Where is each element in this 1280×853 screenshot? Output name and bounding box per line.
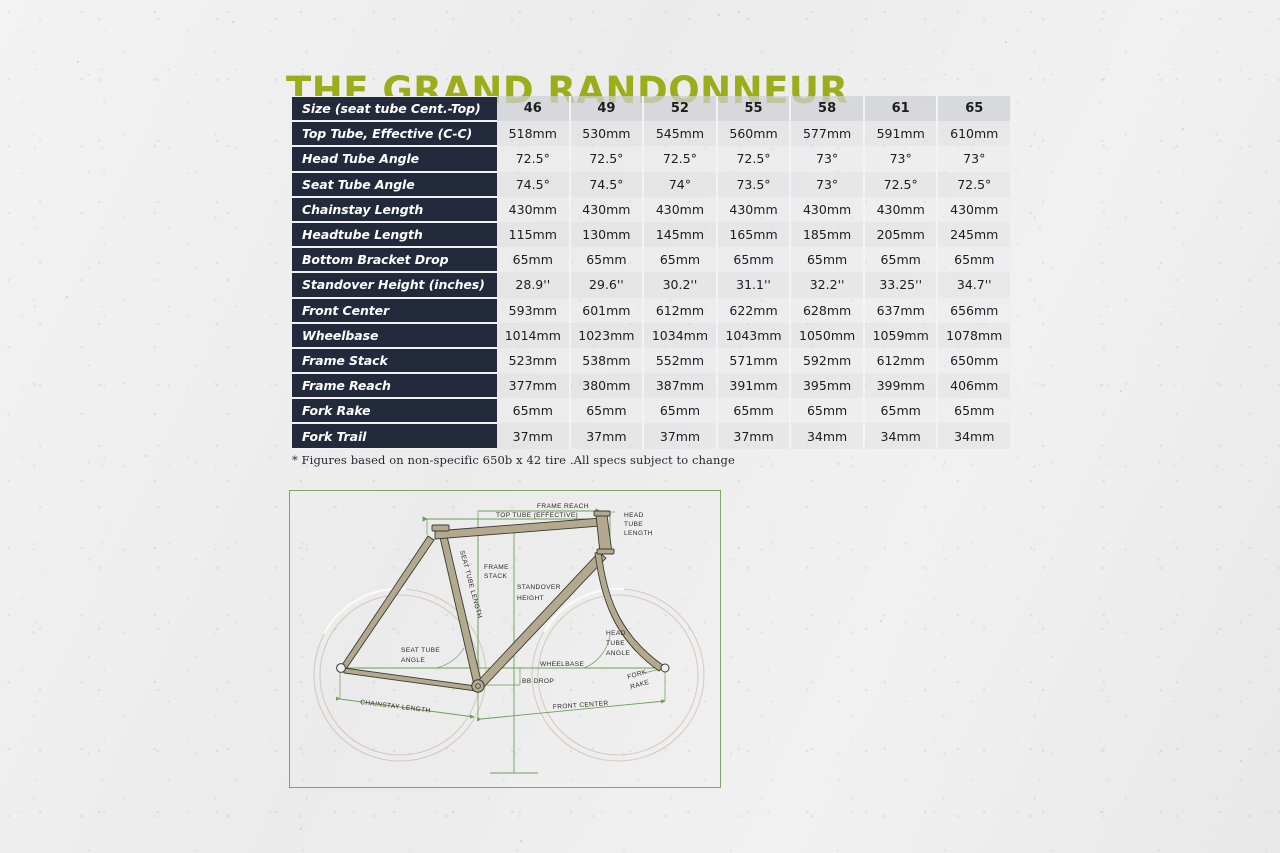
paper-speck <box>300 828 302 830</box>
value-cell: 592mm <box>791 348 865 373</box>
label-frame-reach: FRAME REACH <box>537 503 589 510</box>
value-cell: 395mm <box>791 373 865 398</box>
row-cells: 65mm65mm65mm65mm65mm65mm65mm <box>497 398 1010 423</box>
value-cell: 72.5° <box>865 172 939 197</box>
label-standover-1: STANDOVER <box>517 584 561 591</box>
value-cell: 73° <box>791 146 865 171</box>
value-cell: 65mm <box>497 247 571 272</box>
row-cells: 115mm130mm145mm165mm185mm205mm245mm <box>497 222 1010 247</box>
value-cell: 523mm <box>497 348 571 373</box>
paper-speck <box>77 61 79 63</box>
value-cell: 73.5° <box>718 172 792 197</box>
value-cell: 37mm <box>497 423 571 448</box>
label-bb-drop: BB DROP <box>522 678 554 685</box>
value-cell: 612mm <box>644 298 718 323</box>
paper-speck <box>1005 41 1007 43</box>
row-cells: 65mm65mm65mm65mm65mm65mm65mm <box>497 247 1010 272</box>
tube-chain-stay <box>344 668 476 691</box>
table-row: Frame Reach377mm380mm387mm391mm395mm399m… <box>292 373 1010 398</box>
value-cell: 622mm <box>718 298 792 323</box>
diagram-border <box>290 491 721 788</box>
value-cell: 1059mm <box>865 323 939 348</box>
row-cells: 46495255586165 <box>497 96 1010 121</box>
value-cell: 33.25'' <box>865 272 939 297</box>
size-header-cell: 58 <box>791 96 865 121</box>
row-label: Head Tube Angle <box>292 146 497 171</box>
value-cell: 28.9'' <box>497 272 571 297</box>
front-dropout <box>661 664 669 672</box>
rear-dropout <box>337 664 346 673</box>
value-cell: 72.5° <box>571 146 645 171</box>
row-label: Wheelbase <box>292 323 497 348</box>
value-cell: 591mm <box>865 121 939 146</box>
value-cell: 65mm <box>497 398 571 423</box>
value-cell: 430mm <box>865 197 939 222</box>
value-cell: 29.6'' <box>571 272 645 297</box>
value-cell: 34mm <box>938 423 1010 448</box>
value-cell: 34.7'' <box>938 272 1010 297</box>
value-cell: 1034mm <box>644 323 718 348</box>
value-cell: 637mm <box>865 298 939 323</box>
value-cell: 72.5° <box>644 146 718 171</box>
value-cell: 65mm <box>865 247 939 272</box>
value-cell: 430mm <box>571 197 645 222</box>
paper-speck <box>1182 128 1184 130</box>
value-cell: 399mm <box>865 373 939 398</box>
label-wheelbase: WHEELBASE <box>540 661 584 668</box>
row-cells: 523mm538mm552mm571mm592mm612mm650mm <box>497 348 1010 373</box>
size-header-cell: 55 <box>718 96 792 121</box>
value-cell: 656mm <box>938 298 1010 323</box>
value-cell: 430mm <box>938 197 1010 222</box>
row-label: Fork Trail <box>292 423 497 448</box>
value-cell: 115mm <box>497 222 571 247</box>
value-cell: 650mm <box>938 348 1010 373</box>
value-cell: 612mm <box>865 348 939 373</box>
value-cell: 577mm <box>791 121 865 146</box>
headset-top-cup <box>594 511 610 516</box>
size-header-cell: 46 <box>497 96 571 121</box>
row-cells: 1014mm1023mm1034mm1043mm1050mm1059mm1078… <box>497 323 1010 348</box>
value-cell: 30.2'' <box>644 272 718 297</box>
table-header-label: Size (seat tube Cent.-Top) <box>292 96 497 121</box>
label-top-tube: TOP TUBE (EFFECTIVE) <box>496 512 578 519</box>
row-cells: 72.5°72.5°72.5°72.5°73°73°73° <box>497 146 1010 171</box>
label-fork-rake-2: RAKE <box>630 679 651 691</box>
label-head-tube-angle-2: TUBE <box>606 640 625 647</box>
table-row: Wheelbase1014mm1023mm1034mm1043mm1050mm1… <box>292 323 1010 348</box>
value-cell: 628mm <box>791 298 865 323</box>
value-cell: 380mm <box>571 373 645 398</box>
table-row: Fork Trail37mm37mm37mm37mm34mm34mm34mm <box>292 423 1010 448</box>
value-cell: 205mm <box>865 222 939 247</box>
paper-speck <box>1120 390 1122 392</box>
row-cells: 28.9''29.6''30.2''31.1''32.2''33.25''34.… <box>497 272 1010 297</box>
value-cell: 610mm <box>938 121 1010 146</box>
headset-bottom-cup <box>597 549 614 554</box>
paper-speck <box>145 455 147 457</box>
value-cell: 145mm <box>644 222 718 247</box>
paper-speck <box>718 14 720 16</box>
value-cell: 65mm <box>644 247 718 272</box>
value-cell: 552mm <box>644 348 718 373</box>
paper-speck <box>232 21 234 23</box>
value-cell: 130mm <box>571 222 645 247</box>
value-cell: 74.5° <box>497 172 571 197</box>
value-cell: 406mm <box>938 373 1010 398</box>
label-head-tube-length-2: TUBE <box>624 521 643 528</box>
row-label: Chainstay Length <box>292 197 497 222</box>
table-row: Headtube Length115mm130mm145mm165mm185mm… <box>292 222 1010 247</box>
value-cell: 430mm <box>497 197 571 222</box>
value-cell: 65mm <box>791 398 865 423</box>
row-label: Standover Height (inches) <box>292 272 497 297</box>
value-cell: 74.5° <box>571 172 645 197</box>
tube-top-tube <box>435 518 601 539</box>
value-cell: 34mm <box>865 423 939 448</box>
table-row: Head Tube Angle72.5°72.5°72.5°72.5°73°73… <box>292 146 1010 171</box>
label-standover-2: HEIGHT <box>517 595 544 602</box>
bike-geometry-diagram: .gl { stroke:#6f9e55; stroke-width:.9; f… <box>288 489 722 789</box>
label-seat-tube-angle-1: SEAT TUBE <box>401 647 440 654</box>
size-header-cell: 65 <box>938 96 1010 121</box>
row-label: Seat Tube Angle <box>292 172 497 197</box>
row-label: Top Tube, Effective (C-C) <box>292 121 497 146</box>
value-cell: 530mm <box>571 121 645 146</box>
table-header-row: Size (seat tube Cent.-Top)46495255586165 <box>292 96 1010 121</box>
row-label: Frame Stack <box>292 348 497 373</box>
value-cell: 1078mm <box>938 323 1010 348</box>
label-chainstay-length: CHAINSTAY LENGTH <box>360 699 431 715</box>
value-cell: 245mm <box>938 222 1010 247</box>
row-cells: 593mm601mm612mm622mm628mm637mm656mm <box>497 298 1010 323</box>
table-row: Fork Rake65mm65mm65mm65mm65mm65mm65mm <box>292 398 1010 423</box>
value-cell: 1023mm <box>571 323 645 348</box>
value-cell: 65mm <box>718 398 792 423</box>
value-cell: 65mm <box>865 398 939 423</box>
value-cell: 65mm <box>791 247 865 272</box>
value-cell: 601mm <box>571 298 645 323</box>
seat-collar <box>432 525 449 531</box>
row-label: Front Center <box>292 298 497 323</box>
size-header-cell: 52 <box>644 96 718 121</box>
value-cell: 72.5° <box>938 172 1010 197</box>
paper-speck <box>1240 760 1242 762</box>
value-cell: 65mm <box>938 247 1010 272</box>
table-row: Standover Height (inches)28.9''29.6''30.… <box>292 272 1010 297</box>
row-label: Headtube Length <box>292 222 497 247</box>
row-cells: 37mm37mm37mm37mm34mm34mm34mm <box>497 423 1010 448</box>
label-head-tube-angle-1: HEAD <box>606 630 626 637</box>
value-cell: 34mm <box>791 423 865 448</box>
value-cell: 430mm <box>718 197 792 222</box>
label-head-tube-angle-3: ANGLE <box>606 650 630 657</box>
label-frame-stack-1: FRAME <box>484 564 509 571</box>
row-label: Frame Reach <box>292 373 497 398</box>
geometry-spec-table: Size (seat tube Cent.-Top)46495255586165… <box>292 96 1010 449</box>
value-cell: 37mm <box>718 423 792 448</box>
value-cell: 593mm <box>497 298 571 323</box>
value-cell: 560mm <box>718 121 792 146</box>
paper-speck <box>880 620 882 622</box>
arc-seat-tube-angle <box>436 648 464 668</box>
table-row: Chainstay Length430mm430mm430mm430mm430m… <box>292 197 1010 222</box>
value-cell: 538mm <box>571 348 645 373</box>
label-head-tube-length-3: LENGTH <box>624 530 653 537</box>
value-cell: 518mm <box>497 121 571 146</box>
value-cell: 377mm <box>497 373 571 398</box>
size-header-cell: 61 <box>865 96 939 121</box>
value-cell: 391mm <box>718 373 792 398</box>
label-seat-tube-angle-2: ANGLE <box>401 657 425 664</box>
table-row: Frame Stack523mm538mm552mm571mm592mm612m… <box>292 348 1010 373</box>
value-cell: 430mm <box>644 197 718 222</box>
row-label: Bottom Bracket Drop <box>292 247 497 272</box>
row-cells: 377mm380mm387mm391mm395mm399mm406mm <box>497 373 1010 398</box>
value-cell: 73° <box>791 172 865 197</box>
value-cell: 32.2'' <box>791 272 865 297</box>
value-cell: 1043mm <box>718 323 792 348</box>
value-cell: 165mm <box>718 222 792 247</box>
table-row: Front Center593mm601mm612mm622mm628mm637… <box>292 298 1010 323</box>
label-frame-stack-2: STACK <box>484 573 507 580</box>
row-cells: 518mm530mm545mm560mm577mm591mm610mm <box>497 121 1010 146</box>
value-cell: 185mm <box>791 222 865 247</box>
value-cell: 430mm <box>791 197 865 222</box>
value-cell: 1014mm <box>497 323 571 348</box>
value-cell: 65mm <box>571 398 645 423</box>
row-cells: 430mm430mm430mm430mm430mm430mm430mm <box>497 197 1010 222</box>
row-label: Fork Rake <box>292 398 497 423</box>
value-cell: 65mm <box>718 247 792 272</box>
table-row: Seat Tube Angle74.5°74.5°74°73.5°73°72.5… <box>292 172 1010 197</box>
table-footnote: * Figures based on non-specific 650b x 4… <box>292 453 735 467</box>
value-cell: 387mm <box>644 373 718 398</box>
table-row: Bottom Bracket Drop65mm65mm65mm65mm65mm6… <box>292 247 1010 272</box>
value-cell: 37mm <box>571 423 645 448</box>
paper-speck <box>520 840 522 842</box>
value-cell: 73° <box>938 146 1010 171</box>
value-cell: 545mm <box>644 121 718 146</box>
value-cell: 65mm <box>938 398 1010 423</box>
value-cell: 72.5° <box>497 146 571 171</box>
value-cell: 31.1'' <box>718 272 792 297</box>
value-cell: 65mm <box>571 247 645 272</box>
label-head-tube-length-1: HEAD <box>624 512 644 519</box>
value-cell: 73° <box>865 146 939 171</box>
value-cell: 65mm <box>644 398 718 423</box>
row-cells: 74.5°74.5°74°73.5°73°72.5°72.5° <box>497 172 1010 197</box>
value-cell: 72.5° <box>718 146 792 171</box>
size-header-cell: 49 <box>571 96 645 121</box>
value-cell: 571mm <box>718 348 792 373</box>
table-row: Top Tube, Effective (C-C)518mm530mm545mm… <box>292 121 1010 146</box>
value-cell: 1050mm <box>791 323 865 348</box>
value-cell: 74° <box>644 172 718 197</box>
value-cell: 37mm <box>644 423 718 448</box>
paper-speck <box>66 296 68 298</box>
